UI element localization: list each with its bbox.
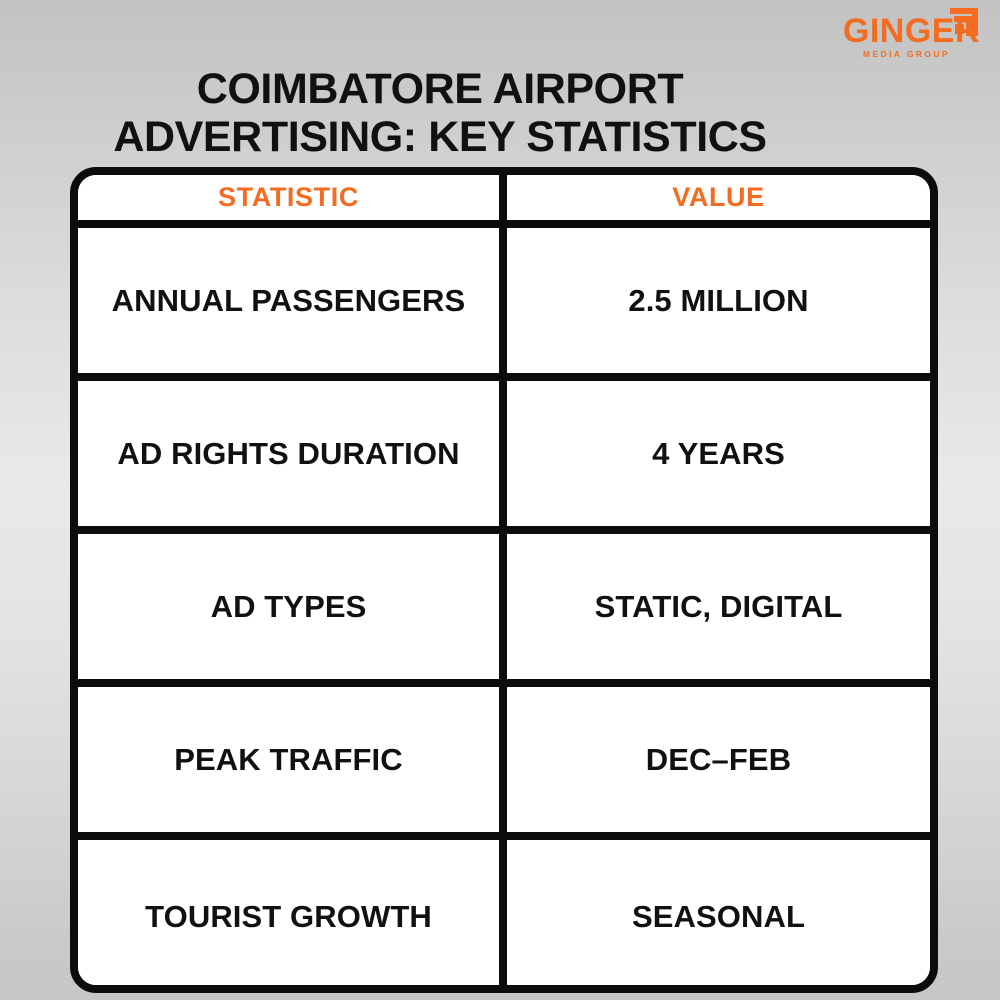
cell-value: STATIC, DIGITAL <box>507 534 930 679</box>
cell-statistic: AD RIGHTS DURATION <box>78 381 507 526</box>
brand-logo: GINGER MEDIA GROUP <box>843 14 980 59</box>
statistics-table: STATISTIC VALUE ANNUAL PASSENGERS 2.5 MI… <box>70 167 938 993</box>
infographic-page: GINGER MEDIA GROUP COIMBATORE AIRPORT AD… <box>0 0 1000 1000</box>
header-cell-statistic: STATISTIC <box>78 175 507 220</box>
header-cell-value: VALUE <box>507 175 930 220</box>
table-row: PEAK TRAFFIC DEC–FEB <box>78 687 930 840</box>
cell-statistic: ANNUAL PASSENGERS <box>78 228 507 373</box>
table-row: AD RIGHTS DURATION 4 YEARS <box>78 381 930 534</box>
table-row: TOURIST GROWTH SEASONAL <box>78 840 930 993</box>
cell-value: 4 YEARS <box>507 381 930 526</box>
table-header-row: STATISTIC VALUE <box>78 175 930 228</box>
cell-statistic: PEAK TRAFFIC <box>78 687 507 832</box>
cell-value: SEASONAL <box>507 840 930 993</box>
table-row: ANNUAL PASSENGERS 2.5 MILLION <box>78 228 930 381</box>
page-title-line-2: ADVERTISING: KEY STATISTICS <box>60 113 820 161</box>
table-row: AD TYPES STATIC, DIGITAL <box>78 534 930 687</box>
page-title-line-1: COIMBATORE AIRPORT <box>60 65 820 113</box>
cell-value: DEC–FEB <box>507 687 930 832</box>
brand-tagline: MEDIA GROUP <box>843 50 980 59</box>
cell-statistic: AD TYPES <box>78 534 507 679</box>
cell-value: 2.5 MILLION <box>507 228 930 373</box>
cell-statistic: TOURIST GROWTH <box>78 840 507 993</box>
nested-squares-icon <box>948 6 980 36</box>
page-title: COIMBATORE AIRPORT ADVERTISING: KEY STAT… <box>60 65 820 161</box>
